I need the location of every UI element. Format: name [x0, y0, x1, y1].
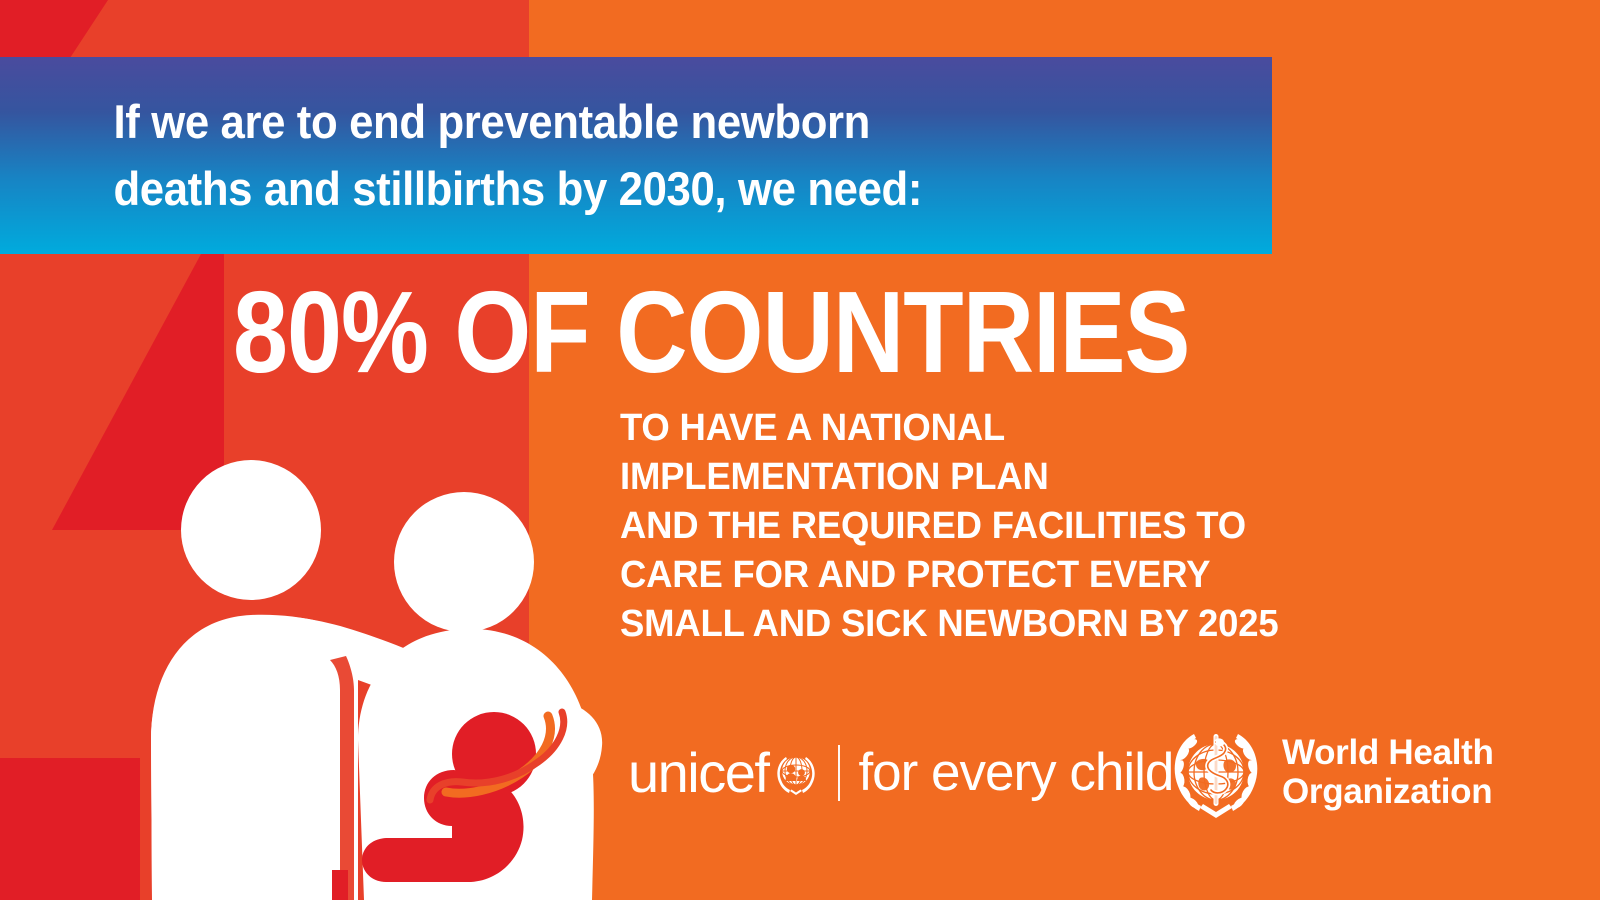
body-copy-block: TO HAVE A NATIONAL IMPLEMENTATION PLAN A… [620, 404, 1490, 649]
unicef-globe-emblem-icon [772, 749, 820, 797]
body-copy-line: AND THE REQUIRED FACILITIES TO [620, 502, 1455, 551]
unicef-tagline: for every child [858, 745, 1173, 801]
who-logo[interactable]: World Health Organization [1164, 722, 1494, 822]
unicef-wordmark: unicef [628, 745, 768, 801]
headline-banner: If we are to end preventable newborn dea… [0, 57, 1272, 254]
family-with-newborn-illustration [96, 440, 636, 900]
adult-left-head-icon [181, 460, 321, 600]
adult-right-head-icon [394, 492, 534, 632]
who-emblem-icon [1164, 722, 1268, 822]
who-wordmark: World Health Organization [1282, 733, 1494, 811]
who-wordmark-line1: World Health [1282, 733, 1494, 772]
body-copy-line: SMALL AND SICK NEWBORN BY 2025 [620, 600, 1455, 649]
statistic-headline-text: 80% OF COUNTRIES [233, 275, 1190, 391]
body-copy-line: CARE FOR AND PROTECT EVERY [620, 551, 1455, 600]
garment-gap-shape [332, 870, 348, 900]
statistic-headline: 80% OF COUNTRIES [233, 283, 1463, 383]
unicef-logo[interactable]: unicef [628, 742, 1173, 804]
unicef-logo-divider [838, 745, 840, 801]
who-wordmark-line2: Organization [1282, 772, 1494, 811]
infographic-poster: If we are to end preventable newborn dea… [0, 0, 1600, 900]
body-copy-line: IMPLEMENTATION PLAN [620, 453, 1455, 502]
body-copy-line: TO HAVE A NATIONAL [620, 404, 1455, 453]
headline-banner-text: If we are to end preventable newborn dea… [0, 89, 941, 222]
